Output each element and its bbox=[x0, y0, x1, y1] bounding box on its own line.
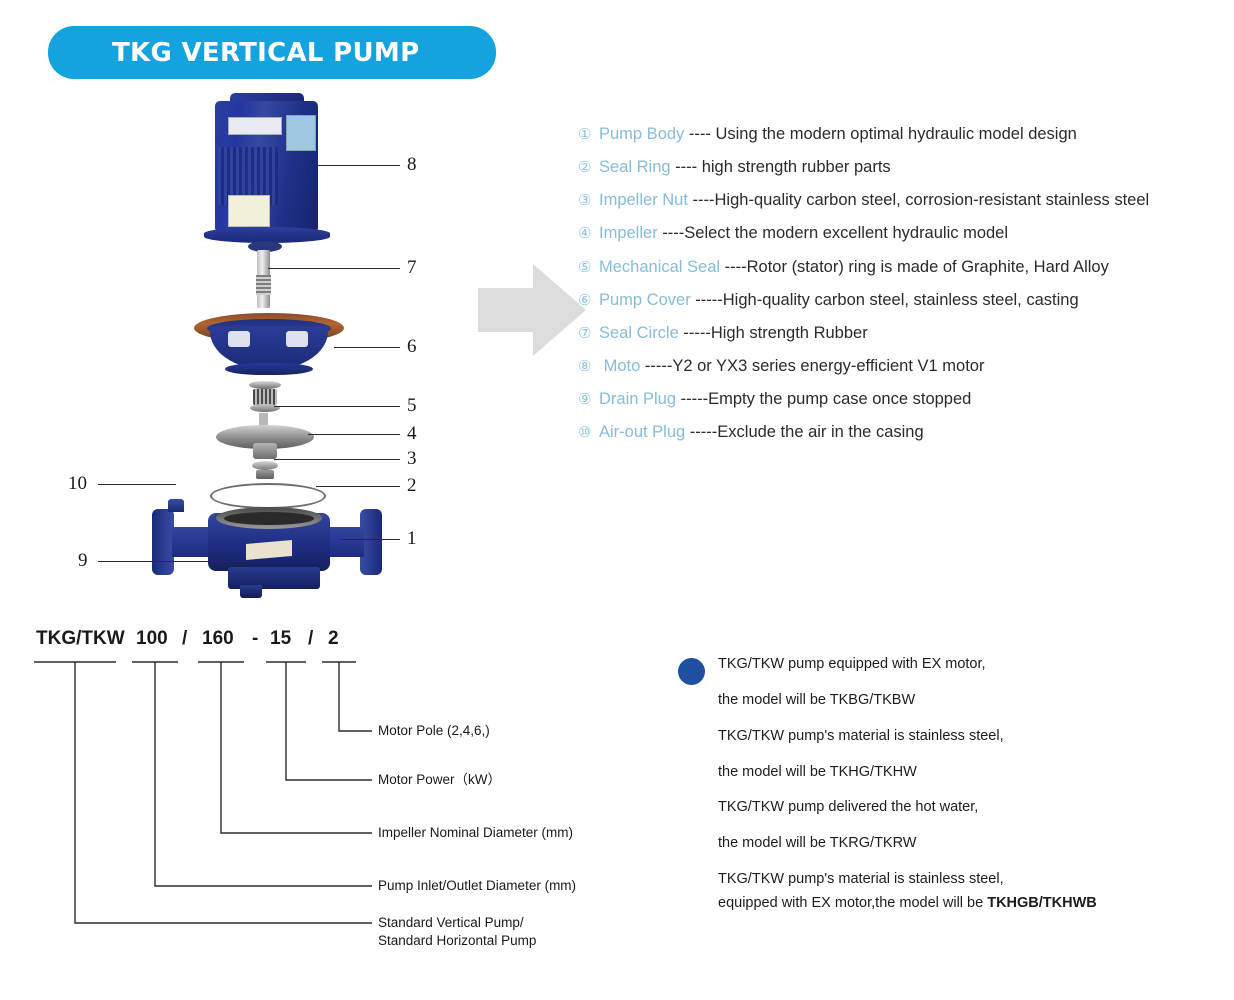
circled-number-icon: ① bbox=[578, 125, 599, 144]
motor-terminal-box bbox=[228, 195, 270, 227]
part-description: ----High-quality carbon steel, corrosion… bbox=[693, 190, 1150, 211]
note-line: TKG/TKW pump delivered the hot water, bbox=[718, 798, 1228, 817]
legend-item: ⑥ Pump Cover -----High-quality carbon st… bbox=[578, 290, 1228, 311]
model-label-pump-type: Standard Vertical Pump/ Standard Horizon… bbox=[378, 914, 536, 950]
part-name: Seal Ring bbox=[599, 157, 675, 178]
part-description: ---- high strength rubber parts bbox=[675, 157, 891, 178]
legend-item: ③ Impeller Nut ----High-quality carbon s… bbox=[578, 190, 1228, 211]
callout-number-9: 9 bbox=[78, 550, 88, 572]
part-name: Impeller Nut bbox=[599, 190, 693, 211]
legend-item: ⑨ Drain Plug -----Empty the pump case on… bbox=[578, 389, 1228, 410]
legend-item: ④ Impeller ----Select the modern excelle… bbox=[578, 223, 1228, 244]
part-name: Pump Body bbox=[599, 124, 689, 145]
title-banner: TKG VERTICAL PUMP bbox=[48, 26, 496, 79]
shaft-keyway bbox=[256, 275, 271, 295]
model-variant-notes: TKG/TKW pump equipped with EX motor, the… bbox=[718, 655, 1228, 930]
pump-cover-window-right bbox=[286, 331, 308, 347]
part-name: Impeller bbox=[599, 223, 662, 244]
note-line: TKG/TKW pump's material is stainless ste… bbox=[718, 870, 1228, 889]
page-title: TKG VERTICAL PUMP bbox=[112, 38, 419, 68]
part-name: Air-out Plug bbox=[599, 422, 690, 443]
circled-number-icon: ③ bbox=[578, 191, 599, 210]
circled-number-icon: ② bbox=[578, 158, 599, 177]
callout-number-2: 2 bbox=[407, 475, 417, 497]
leader-line-8 bbox=[318, 165, 400, 166]
mechanical-seal-body bbox=[253, 389, 277, 405]
leader-line-9 bbox=[98, 561, 250, 562]
parts-legend: ① Pump Body ---- Using the modern optima… bbox=[578, 124, 1228, 455]
part-name: Mechanical Seal bbox=[599, 257, 725, 278]
part-description: -----Y2 or YX3 series energy-efficient V… bbox=[645, 356, 985, 377]
right-arrow-icon bbox=[478, 258, 588, 362]
pump-cover-foot bbox=[225, 363, 313, 375]
bullet-dot-icon bbox=[678, 658, 705, 685]
part-description: -----Exclude the air in the casing bbox=[690, 422, 924, 443]
part-name: Moto bbox=[599, 356, 645, 377]
note-line: the model will be TKHG/TKHW bbox=[718, 763, 1228, 782]
impeller-hub bbox=[253, 443, 277, 459]
callout-number-6: 6 bbox=[407, 336, 417, 358]
model-code-leader-lines bbox=[20, 628, 620, 948]
leader-line-4 bbox=[308, 434, 400, 435]
legend-item: ⑧ Moto -----Y2 or YX3 series energy-effi… bbox=[578, 356, 1228, 377]
seal-ring-oring bbox=[210, 483, 326, 509]
circled-number-icon: ⑩ bbox=[578, 423, 599, 442]
leader-line-10 bbox=[98, 484, 176, 485]
leader-line-6 bbox=[334, 347, 400, 348]
model-code-breakdown: TKG/TKW 100 / 160 - 15 / 2 bbox=[20, 628, 620, 958]
model-label-motor-power: Motor Power（kW） bbox=[378, 771, 501, 789]
callout-number-10: 10 bbox=[68, 473, 87, 495]
impeller-nut bbox=[256, 470, 274, 479]
part-name: Drain Plug bbox=[599, 389, 681, 410]
mechanical-seal-top bbox=[249, 381, 281, 389]
leader-line-5 bbox=[274, 406, 400, 407]
leader-line-7 bbox=[268, 268, 400, 269]
callout-number-5: 5 bbox=[407, 395, 417, 417]
pump-body-bore bbox=[224, 512, 314, 525]
circled-number-icon: ⑨ bbox=[578, 390, 599, 409]
legend-item: ② Seal Ring ---- high strength rubber pa… bbox=[578, 157, 1228, 178]
part-description: -----Empty the pump case once stopped bbox=[681, 389, 972, 410]
part-description: ----Rotor (stator) ring is made of Graph… bbox=[725, 257, 1109, 278]
circled-number-icon: ④ bbox=[578, 224, 599, 243]
legend-item: ⑩ Air-out Plug -----Exclude the air in t… bbox=[578, 422, 1228, 443]
motor-nameplate-upper bbox=[228, 117, 282, 135]
air-out-plug bbox=[168, 499, 184, 512]
callout-number-8: 8 bbox=[407, 154, 417, 176]
model-label-impeller-diameter: Impeller Nominal Diameter (mm) bbox=[378, 824, 573, 842]
drain-plug bbox=[240, 585, 262, 598]
callout-number-1: 1 bbox=[407, 528, 417, 550]
note-line: the model will be TKRG/TKRW bbox=[718, 834, 1228, 853]
motor-nameplate-side bbox=[286, 115, 316, 151]
circled-number-icon: ⑤ bbox=[578, 258, 599, 277]
pump-inlet-flange bbox=[152, 509, 174, 575]
callout-number-4: 4 bbox=[407, 423, 417, 445]
note-text: equipped with EX motor,the model will be bbox=[718, 895, 987, 911]
part-description: -----High-quality carbon steel, stainles… bbox=[695, 290, 1078, 311]
leader-line-1 bbox=[340, 539, 400, 540]
note-model-bold: TKHGB/TKHWB bbox=[987, 895, 1097, 911]
impeller-nut-washer bbox=[252, 461, 278, 470]
part-description: -----High strength Rubber bbox=[683, 323, 867, 344]
circled-number-icon: ⑧ bbox=[578, 357, 599, 376]
note-line: TKG/TKW pump equipped with EX motor, bbox=[718, 655, 1228, 674]
callout-number-3: 3 bbox=[407, 448, 417, 470]
callout-number-7: 7 bbox=[407, 257, 417, 279]
note-line: TKG/TKW pump's material is stainless ste… bbox=[718, 727, 1228, 746]
circled-number-icon: ⑥ bbox=[578, 291, 599, 310]
part-description: ----Select the modern excellent hydrauli… bbox=[662, 223, 1008, 244]
model-label-motor-pole: Motor Pole (2,4,6,) bbox=[378, 722, 490, 740]
note-line-final: equipped with EX motor,the model will be… bbox=[718, 894, 1228, 913]
note-line: the model will be TKBG/TKBW bbox=[718, 691, 1228, 710]
part-name: Seal Circle bbox=[599, 323, 683, 344]
leader-line-3 bbox=[274, 459, 400, 460]
pump-cover-window-left bbox=[228, 331, 250, 347]
leader-line-2 bbox=[316, 486, 400, 487]
model-label-inlet-diameter: Pump Inlet/Outlet Diameter (mm) bbox=[378, 877, 576, 895]
product-spec-page: TKG VERTICAL PUMP bbox=[0, 0, 1234, 1000]
legend-item: ① Pump Body ---- Using the modern optima… bbox=[578, 124, 1228, 145]
exploded-pump-diagram: 8 7 6 5 4 3 2 1 10 9 bbox=[60, 95, 480, 595]
legend-item: ⑦ Seal Circle -----High strength Rubber bbox=[578, 323, 1228, 344]
part-description: ---- Using the modern optimal hydraulic … bbox=[689, 124, 1077, 145]
part-name: Pump Cover bbox=[599, 290, 695, 311]
legend-item: ⑤ Mechanical Seal ----Rotor (stator) rin… bbox=[578, 257, 1228, 278]
circled-number-icon: ⑦ bbox=[578, 324, 599, 343]
